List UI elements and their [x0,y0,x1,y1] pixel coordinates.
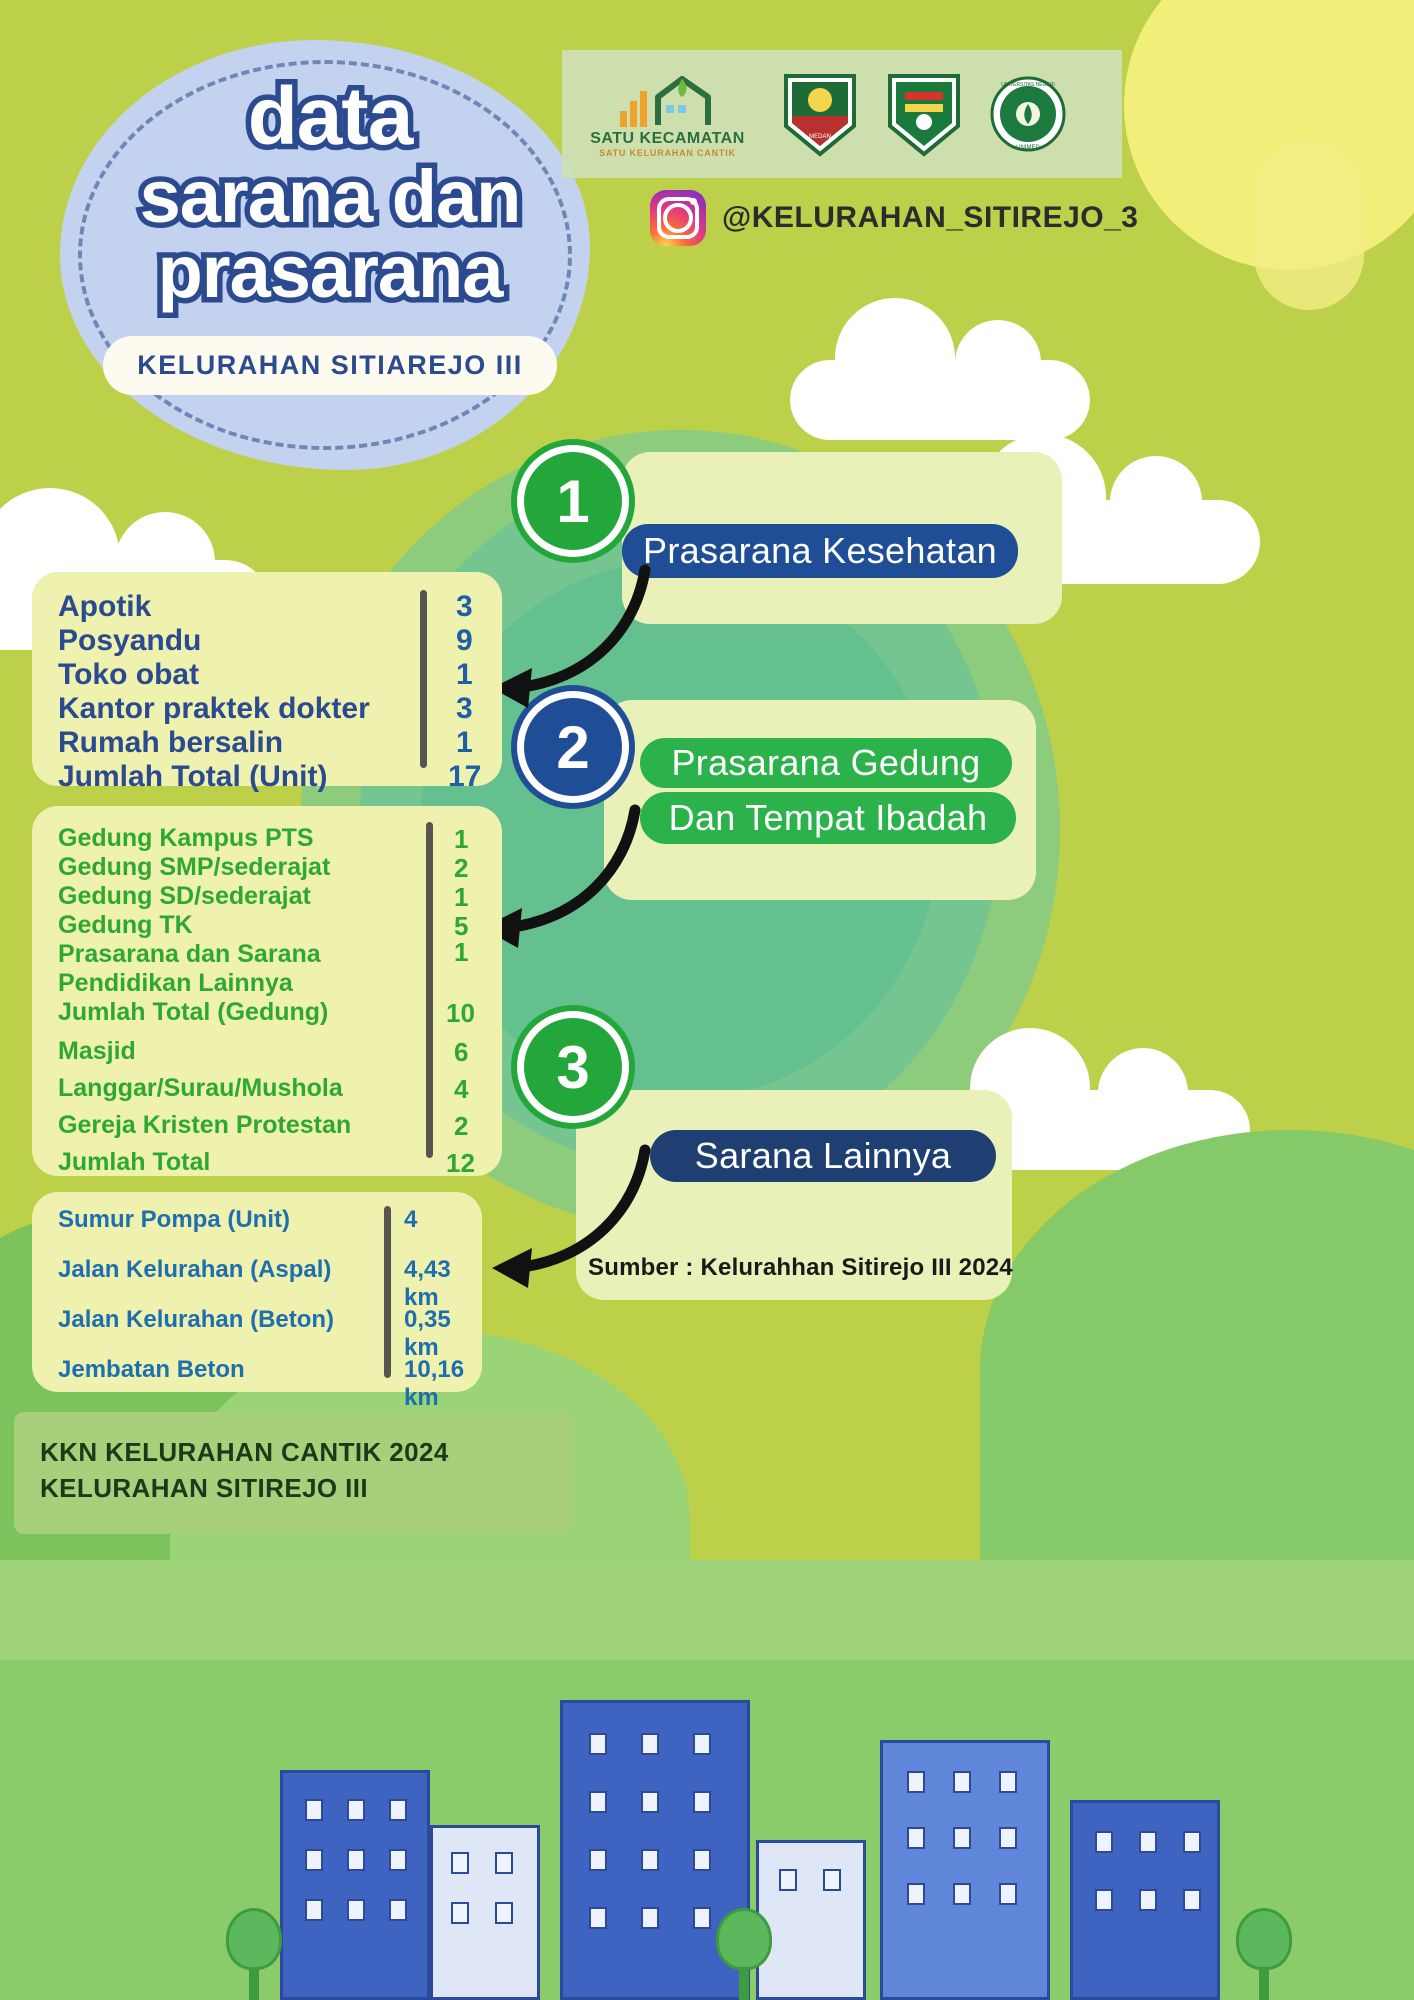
table-row: Posyandu 9 [58,624,476,658]
title-line-1: data [248,75,413,159]
row-label: Toko obat [58,658,199,692]
row-label: Masjid [58,1037,136,1066]
title-line-2: sarana dan [140,159,521,234]
table-row: Toko obat 1 [58,658,476,692]
instagram-handle-row[interactable]: @KELURAHAN_SITIREJO_3 [650,190,1139,246]
bar-chart-icon [620,91,647,127]
universitas-negeri-medan-crest-icon: UNIVERSITAS NEGERI UNIMED [989,70,1067,158]
row-label: Apotik [58,590,151,624]
logo-bar: SATU KECAMATAN SATU KELURAHAN CANTIK MED… [562,50,1122,178]
table-row: Pendidikan Lainnya 1 [58,969,476,998]
svg-text:UNIVERSITAS NEGERI: UNIVERSITAS NEGERI [1001,82,1055,88]
row-label: Gedung SMP/sederajat [58,853,330,882]
satu-kelurahan-subtitle: SATU KELURAHAN CANTIK [599,148,736,158]
row-label: Langgar/Surau/Mushola [58,1074,343,1103]
table-row: Langgar/Surau/Mushola 4 [58,1074,476,1103]
table-row: Gereja Kristen Protestan 2 [58,1111,476,1140]
row-label-continued: Pendidikan Lainnya [58,969,293,998]
hill-shape [980,1130,1414,1610]
table-row: Gedung SD/sederajat 1 [58,882,476,911]
footer-banner: KKN KELURAHAN CANTIK 2024 KELURAHAN SITI… [14,1412,574,1534]
buildings-table: Gedung Kampus PTS 1 Gedung SMP/sederajat… [32,806,502,1195]
cloud-icon [790,360,1090,440]
table-row: Masjid 6 [58,1037,476,1066]
table-row: Jembatan Beton 10,16 km [58,1356,456,1384]
row-value: 1 [454,882,468,913]
row-label: Kantor praktek dokter [58,692,370,726]
health-data-card: Apotik 3 Posyandu 9 Toko obat 1 Kantor p… [32,572,502,786]
row-value: 17 [448,760,481,794]
table-row: Sumur Pompa (Unit) 4 [58,1206,456,1234]
row-label: Gedung Kampus PTS [58,824,314,853]
section-2-title-banner-line2: Dan Tempat Ibadah [640,792,1016,844]
row-label: Sumur Pompa (Unit) [58,1206,290,1234]
city-skyline-illustration [0,1660,1414,2000]
kabupaten-deli-serdang-crest-icon: MEDAN [781,70,859,158]
page-title: data sarana dan prasarana KELURAHAN SITI… [60,75,600,395]
instagram-handle-text: @KELURAHAN_SITIREJO_3 [722,201,1139,235]
row-value: 12 [446,1148,475,1179]
row-value: 10,16 km [404,1356,482,1412]
row-value: 3 [456,692,473,726]
sun-ray-shape [1254,140,1364,310]
row-label: Jumlah Total [58,1148,210,1177]
row-label: Gedung TK [58,911,193,940]
poster-root: data sarana dan prasarana KELURAHAN SITI… [0,0,1414,2000]
other-facilities-table: Sumur Pompa (Unit) 4 Jalan Kelurahan (As… [32,1192,482,1402]
table-row: Gedung Kampus PTS 1 [58,824,476,853]
table-row: Prasarana dan Sarana [58,940,476,969]
row-label: Gereja Kristen Protestan [58,1111,351,1140]
row-value: 9 [456,624,473,658]
row-value: 3 [456,590,473,624]
table-row: Kantor praktek dokter 3 [58,692,476,726]
step-badge-3-number: 3 [556,1033,589,1102]
row-value: 4 [454,1074,468,1105]
table-row: Jumlah Total (Gedung) 10 [58,998,476,1027]
table-row: Gedung TK 5 [58,911,476,940]
table-row: Jumlah Total (Unit) 17 [58,760,476,794]
row-value: 1 [454,824,468,855]
other-facilities-data-card: Sumur Pompa (Unit) 4 Jalan Kelurahan (As… [32,1192,482,1392]
row-value: 10 [446,998,475,1029]
table-row: Jumlah Total 12 [58,1148,476,1177]
subtitle-pill: KELURAHAN SITIAREJO III [103,336,557,395]
buildings-data-card: Gedung Kampus PTS 1 Gedung SMP/sederajat… [32,806,502,1176]
row-value: 1 [454,937,468,968]
footer-line-2: KELURAHAN SITIREJO III [40,1470,548,1506]
row-label: Jembatan Beton [58,1356,245,1384]
row-value: 4 [404,1206,417,1234]
satu-kecamatan-title: SATU KECAMATAN [590,130,745,148]
table-row: Apotik 3 [58,590,476,624]
step-badge-1: 1 [524,452,622,550]
section-1-title-banner: Prasarana Kesehatan [622,524,1018,578]
row-label: Jumlah Total (Unit) [58,760,327,794]
row-value: 0,35 km [404,1306,482,1362]
row-label: Jalan Kelurahan (Aspal) [58,1256,331,1284]
section-2-title-banner-line1: Prasarana Gedung [640,738,1012,788]
source-note: Sumber : Kelurahhan Sitirejo III 2024 [588,1254,1013,1282]
row-value: 2 [454,1111,468,1142]
step-badge-3: 3 [524,1018,622,1116]
row-label: Rumah bersalin [58,726,283,760]
row-label: Gedung SD/sederajat [58,882,311,911]
row-label: Jumlah Total (Gedung) [58,998,328,1027]
row-value: 4,43 km [404,1256,482,1312]
house-icon [652,75,716,127]
table-row: Jalan Kelurahan (Aspal) 4,43 km [58,1256,456,1284]
instagram-icon[interactable] [650,190,706,246]
health-table: Apotik 3 Posyandu 9 Toko obat 1 Kantor p… [32,572,502,812]
row-value: 1 [456,658,473,692]
step-badge-1-number: 1 [556,467,589,536]
table-row: Rumah bersalin 1 [58,726,476,760]
row-label: Posyandu [58,624,201,658]
row-value: 6 [454,1037,468,1068]
provinsi-sumatera-utara-crest-icon [885,70,963,158]
svg-text:UNIMED: UNIMED [1016,145,1040,151]
footer-line-1: KKN KELURAHAN CANTIK 2024 [40,1434,548,1470]
row-value: 1 [456,726,473,760]
title-line-3: prasarana [158,234,503,309]
section-3-title-banner: Sarana Lainnya [650,1130,996,1182]
table-row: Gedung SMP/sederajat 2 [58,853,476,882]
table-row: Jalan Kelurahan (Beton) 0,35 km [58,1306,456,1334]
row-label: Jalan Kelurahan (Beton) [58,1306,334,1334]
step-badge-2-number: 2 [556,713,589,782]
row-value: 2 [454,853,468,884]
row-label: Prasarana dan Sarana [58,940,321,969]
svg-text:MEDAN: MEDAN [809,134,831,140]
satu-kecamatan-logo: SATU KECAMATAN SATU KELURAHAN CANTIK [580,71,755,158]
